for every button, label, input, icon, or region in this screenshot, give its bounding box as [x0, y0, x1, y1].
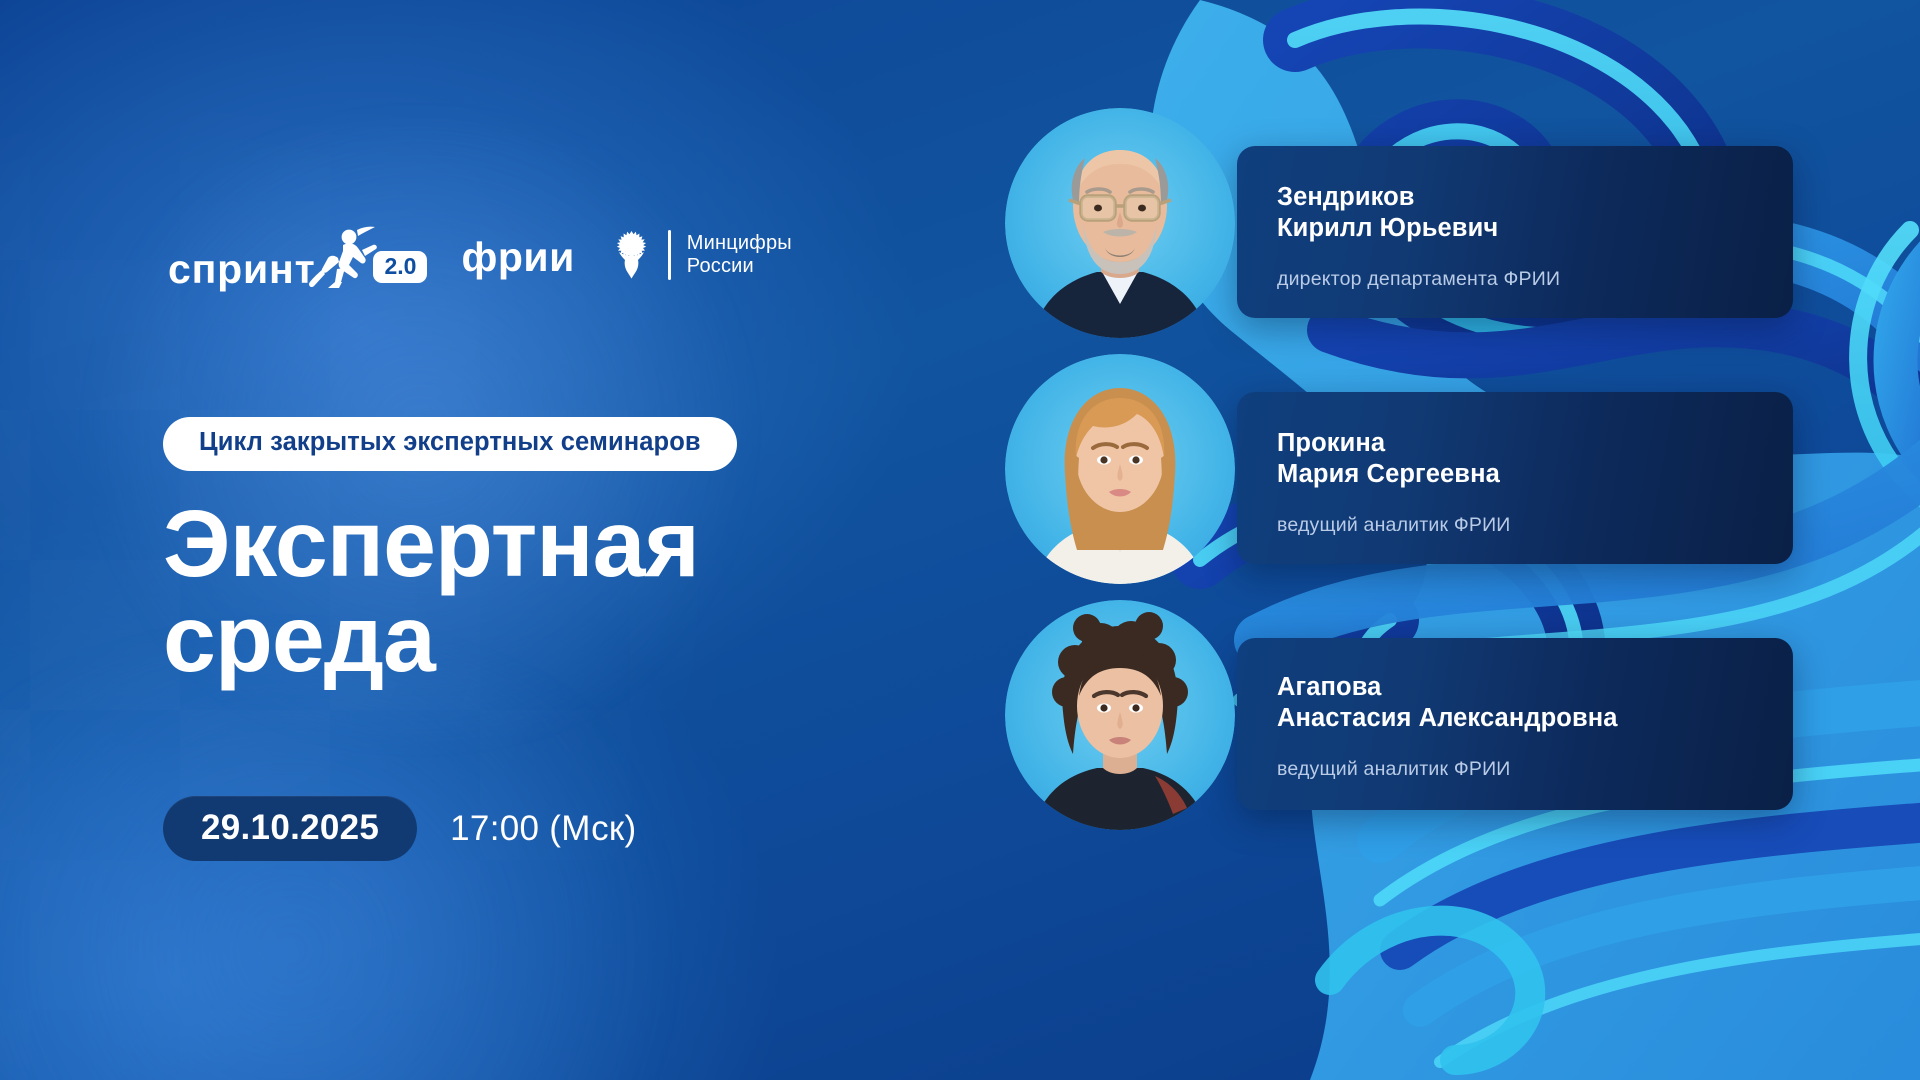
- speaker-name: Агапова Анастасия Александровна: [1277, 672, 1753, 734]
- page-title: Экспертная среда: [163, 497, 699, 687]
- avatar-photo-zendrikov: [1005, 108, 1235, 338]
- event-time: 17:00 (Мск): [450, 811, 636, 846]
- speaker-list: Зендриков Кирилл Юрьевич директор департ…: [1005, 0, 1795, 1080]
- ministry-name: Минцифры России: [687, 232, 792, 278]
- hero-left-column: спринт 2.0 фрии: [163, 0, 923, 1080]
- speaker-name: Прокина Мария Сергеевна: [1277, 428, 1753, 490]
- event-series-label: Цикл закрытых экспертных семинаров: [199, 428, 701, 456]
- ministry-line-1: Минцифры: [687, 232, 792, 255]
- speaker-card: Прокина Мария Сергеевна ведущий аналитик…: [1237, 392, 1793, 564]
- event-date: 29.10.2025: [201, 808, 379, 847]
- sprint-wordmark: спринт: [168, 249, 315, 290]
- avatar-photo-agapova: [1005, 600, 1235, 830]
- speaker-card: Зендриков Кирилл Юрьевич директор департ…: [1237, 146, 1793, 318]
- event-datetime: 29.10.2025 17:00 (Мск): [163, 796, 636, 861]
- speaker-role: ведущий аналитик ФРИИ: [1277, 758, 1753, 781]
- speaker-role: ведущий аналитик ФРИИ: [1277, 514, 1753, 537]
- avatar: [1005, 108, 1235, 338]
- logo-divider: [668, 230, 671, 280]
- russian-coat-of-arms-icon: [611, 230, 652, 280]
- sprint-version-badge: 2.0: [373, 251, 427, 283]
- frii-logo[interactable]: фрии: [461, 237, 574, 278]
- sprint-logo[interactable]: спринт 2.0: [168, 222, 427, 288]
- logo-row: спринт 2.0 фрии: [168, 222, 792, 288]
- speaker-name: Зендриков Кирилл Юрьевич: [1277, 182, 1753, 244]
- event-date-chip: 29.10.2025: [163, 796, 417, 861]
- avatar: [1005, 600, 1235, 830]
- promo-banner: спринт 2.0 фрии: [0, 0, 1920, 1080]
- running-person-icon: [305, 224, 379, 290]
- ministry-line-2: России: [687, 255, 792, 278]
- speaker-card: Агапова Анастасия Александровна ведущий …: [1237, 638, 1793, 810]
- ministry-logo[interactable]: Минцифры России: [611, 230, 792, 280]
- speaker-role: директор департамента ФРИИ: [1277, 268, 1753, 291]
- event-series-pill: Цикл закрытых экспертных семинаров: [163, 417, 737, 471]
- avatar: [1005, 354, 1235, 584]
- avatar-photo-prokina: [1005, 354, 1235, 584]
